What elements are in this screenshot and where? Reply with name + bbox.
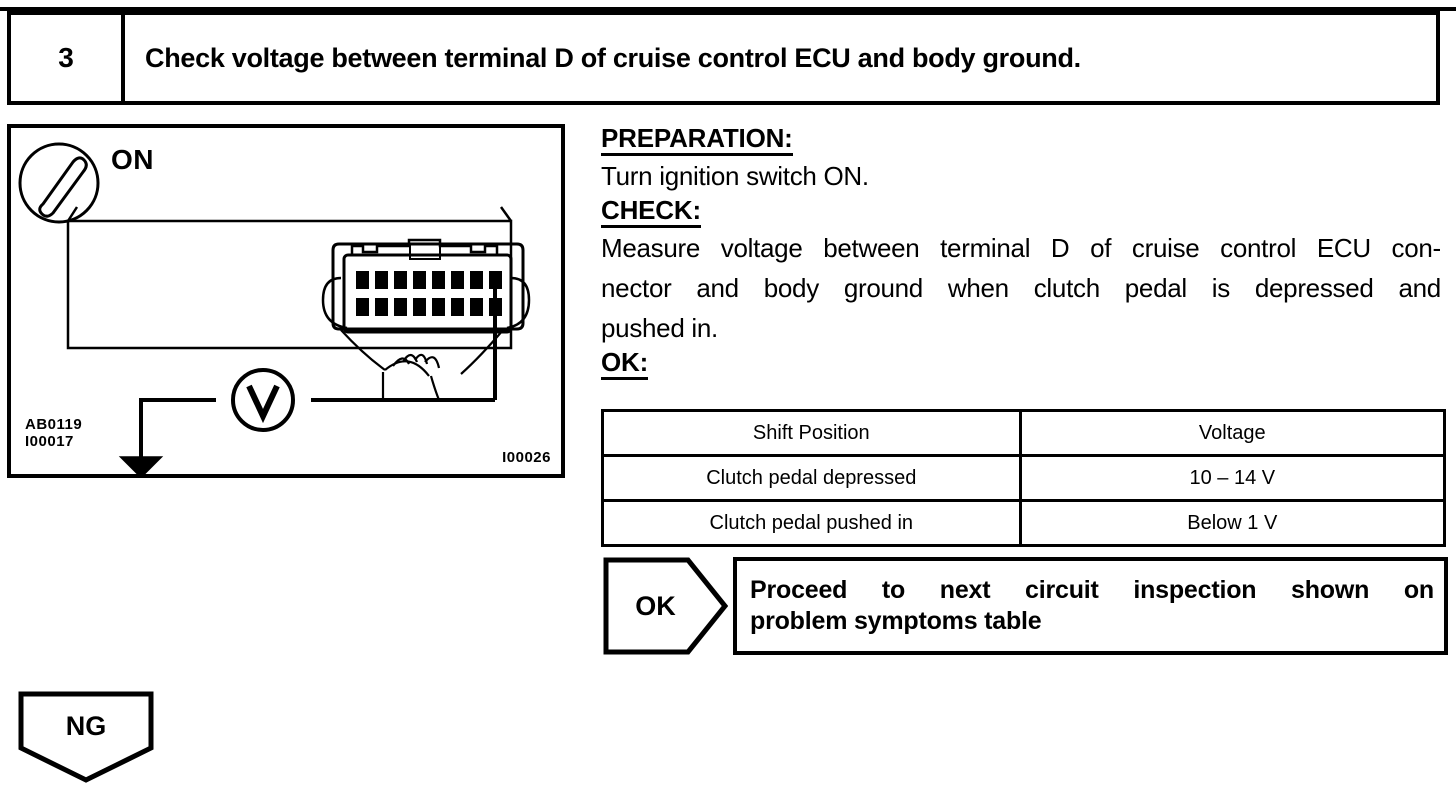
w: next — [940, 575, 991, 606]
harness-bundle — [341, 330, 503, 400]
w: control — [1220, 228, 1296, 268]
ok-result-line-1: Proceed to next circuit inspection shown… — [750, 575, 1434, 606]
instructions-column: PREPARATION: Turn ignition switch ON. CH… — [601, 124, 1446, 380]
figure-code-bottom-right: I00026 — [502, 449, 551, 466]
ng-badge-label: NG — [18, 691, 154, 761]
w: Measure — [601, 228, 700, 268]
w: pedal — [1125, 268, 1187, 308]
latch-tab — [410, 244, 440, 259]
check-heading: CHECK: — [601, 196, 701, 228]
table-header-voltage: Voltage — [1020, 411, 1444, 456]
w: circuit — [1025, 575, 1099, 606]
ok-heading: OK: — [601, 348, 648, 380]
w: to — [882, 575, 905, 606]
w: ECU — [1317, 228, 1371, 268]
w: D — [1051, 228, 1069, 268]
figure-code-i1: I00017 — [25, 433, 82, 450]
w: between — [823, 228, 919, 268]
check-heading-wrap: CHECK: — [601, 196, 1446, 228]
w: clutch — [1034, 268, 1100, 308]
connector-latch — [352, 240, 497, 255]
check-text-line-1: Measure voltage between terminal D of cr… — [601, 228, 1441, 268]
check-text-line-2: nector and body ground when clutch pedal… — [601, 268, 1441, 308]
ok-result-line-2: problem symptoms table — [750, 606, 1434, 637]
connector-pin-row-top — [356, 271, 502, 289]
figure-code-ab: AB0119 — [25, 416, 82, 433]
ground-symbol-icon — [123, 458, 159, 474]
table-header-row: Shift Position Voltage — [603, 411, 1445, 456]
step-header: 3 Check voltage between terminal D of cr… — [7, 11, 1440, 105]
step-title: Check voltage between terminal D of crui… — [125, 15, 1436, 101]
w: terminal — [940, 228, 1030, 268]
connector-body — [344, 255, 511, 332]
preparation-heading: PREPARATION: — [601, 124, 793, 156]
meter-lead-negative — [141, 400, 216, 458]
w: body — [764, 268, 819, 308]
w: cruise — [1132, 228, 1200, 268]
cell-shift-position: Clutch pedal pushed in — [603, 501, 1021, 546]
cell-voltage: 10 – 14 V — [1020, 456, 1444, 501]
w: con- — [1392, 228, 1441, 268]
check-text-line-3: pushed in. — [601, 308, 1441, 348]
w: and — [1398, 268, 1440, 308]
table-header-shift-position: Shift Position — [603, 411, 1021, 456]
table-row: Clutch pedal pushed in Below 1 V — [603, 501, 1445, 546]
w: ground — [844, 268, 923, 308]
ok-result-box: Proceed to next circuit inspection shown… — [733, 557, 1448, 655]
key-slot-icon — [40, 158, 87, 216]
preparation-heading-wrap: PREPARATION: — [601, 124, 1446, 156]
w: nector — [601, 268, 671, 308]
preparation-text: Turn ignition switch ON. — [601, 156, 1446, 196]
service-manual-page: 3 Check voltage between terminal D of cr… — [0, 0, 1456, 808]
wiring-diagram-illustration — [11, 128, 561, 474]
figure-code-top-left: AB0119 I00017 — [25, 416, 82, 450]
w: Proceed — [750, 575, 847, 606]
cell-shift-position: Clutch pedal depressed — [603, 456, 1021, 501]
table-row: Clutch pedal depressed 10 – 14 V — [603, 456, 1445, 501]
voltmeter-icon — [233, 370, 293, 430]
w: and — [696, 268, 738, 308]
voltage-spec-table: Shift Position Voltage Clutch pedal depr… — [601, 409, 1446, 547]
w: on — [1404, 575, 1434, 606]
step-number: 3 — [11, 15, 125, 101]
illustration-panel: AB0119 I00017 I00026 ON (–) D (+) — [7, 124, 565, 478]
ok-result-row: OK Proceed to next circuit inspection sh… — [603, 557, 1448, 655]
w: voltage — [721, 228, 803, 268]
w: is — [1212, 268, 1230, 308]
ok-heading-wrap: OK: — [601, 348, 1446, 380]
w: of — [1090, 228, 1111, 268]
w: when — [948, 268, 1009, 308]
w: inspection — [1133, 575, 1256, 606]
ignition-on-label: ON — [111, 144, 154, 176]
w: shown — [1291, 575, 1369, 606]
cell-voltage: Below 1 V — [1020, 501, 1444, 546]
check-text: Measure voltage between terminal D of cr… — [601, 228, 1441, 348]
connector-pin-row-bottom — [356, 298, 502, 316]
w: depressed — [1255, 268, 1374, 308]
ok-badge-label: OK — [603, 557, 708, 655]
